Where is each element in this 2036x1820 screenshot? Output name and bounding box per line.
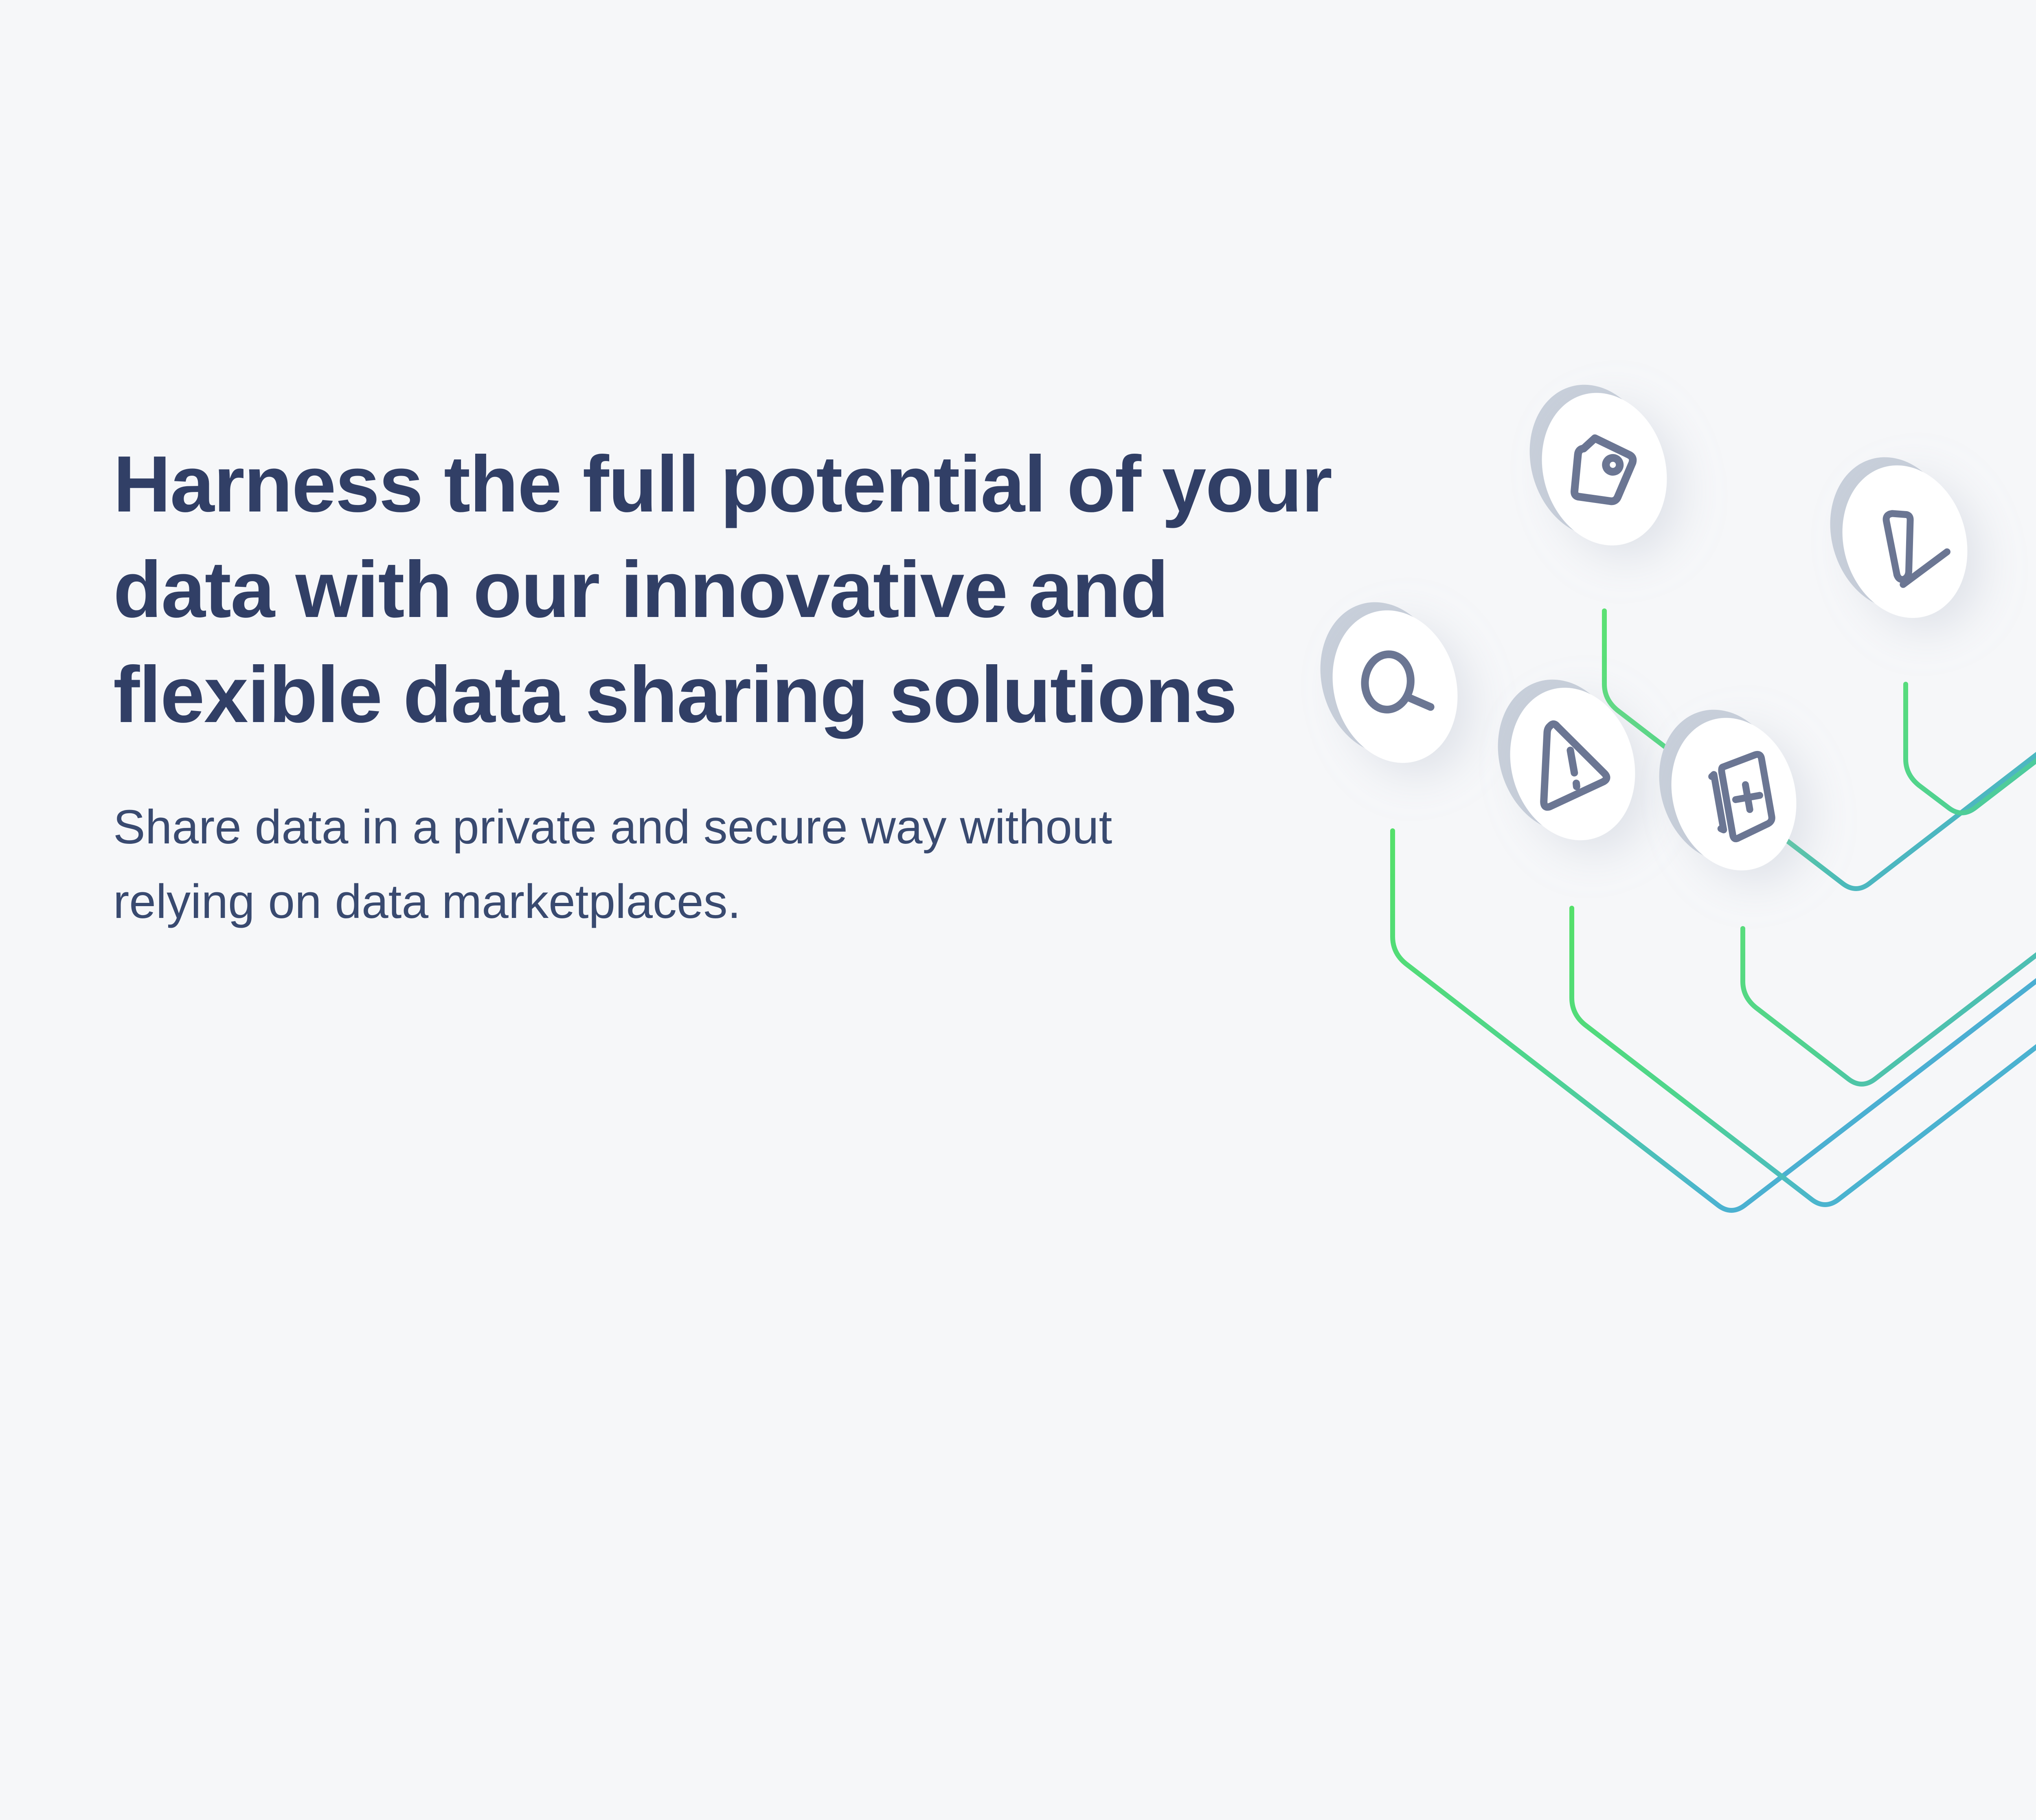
data-sharing-illustration xyxy=(1344,399,2036,1458)
connector-strands xyxy=(1393,611,2036,1210)
bubble-tag[interactable] xyxy=(1512,370,1684,560)
illustration-svg xyxy=(1344,399,2036,1458)
page-title: Harness the full potential of your data … xyxy=(113,432,1416,748)
bubble-pencil[interactable] xyxy=(1812,442,1985,633)
hero-subtitle: Share data in a private and secure way w… xyxy=(113,790,1115,939)
bubble-warning[interactable] xyxy=(1480,665,1652,855)
icon-bubbles xyxy=(1303,370,1985,885)
hero-copy: Harness the full potential of your data … xyxy=(113,432,1457,939)
bubble-file-plus[interactable] xyxy=(1641,695,1814,885)
connector-strand-search xyxy=(1393,831,2036,1210)
connector-strand-file xyxy=(1743,847,2036,1084)
hero-section: Harness the full potential of your data … xyxy=(0,0,2036,1820)
connector-strand-pencil xyxy=(1906,612,2036,813)
